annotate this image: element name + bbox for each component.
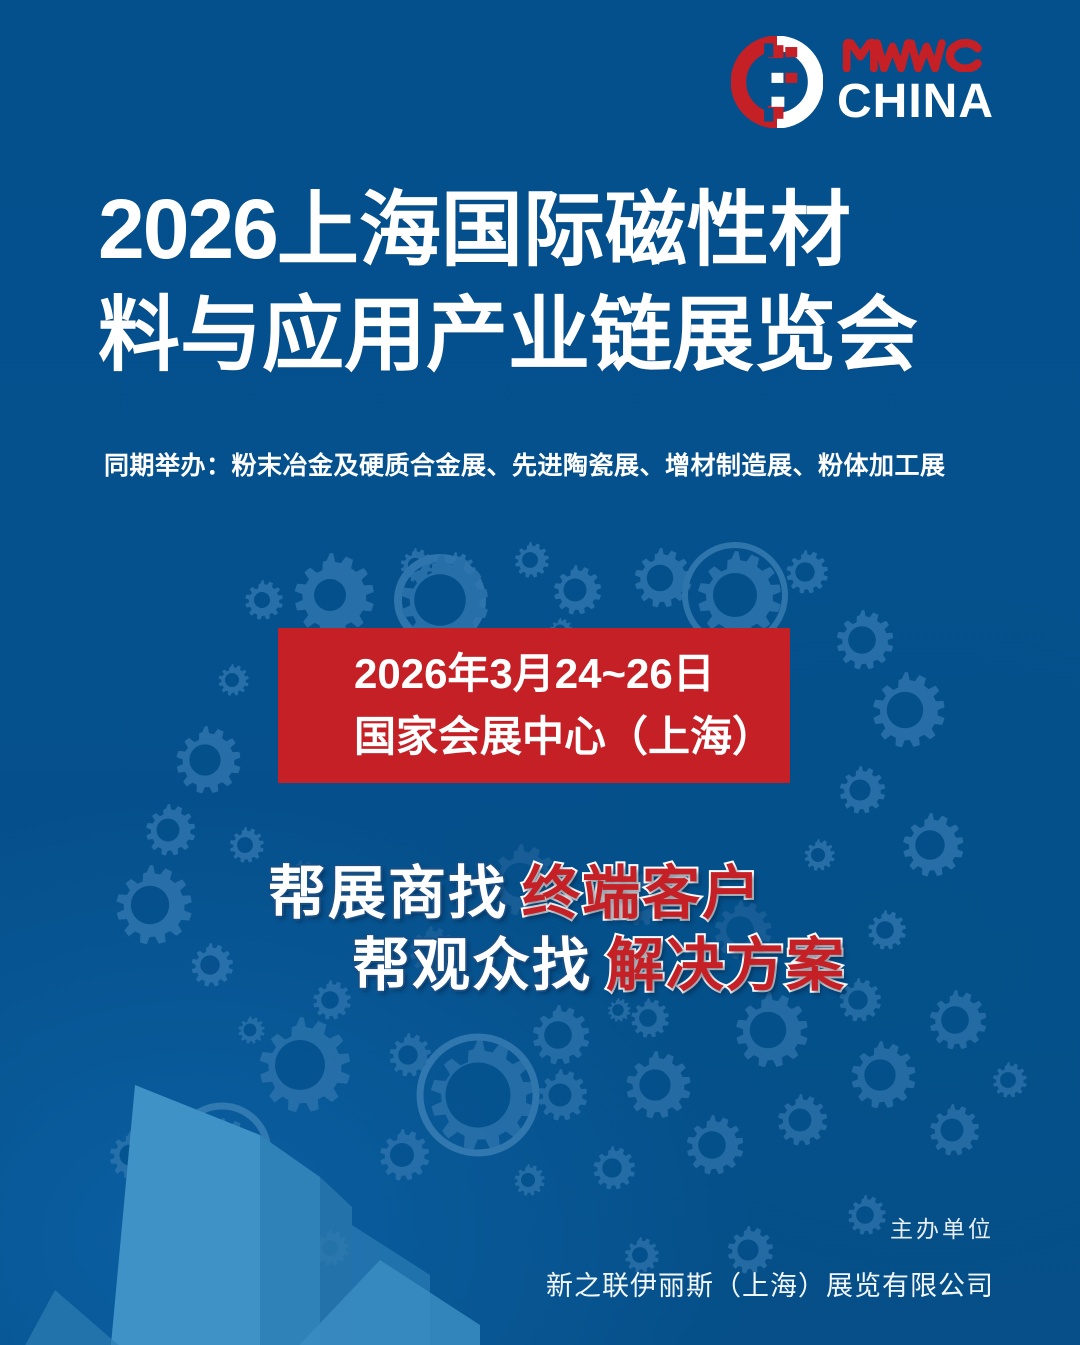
logo-wordmark: CHINA [837, 38, 994, 126]
event-date: 2026年3月24~26日 [354, 643, 790, 705]
footer-label: 主办单位 [546, 1210, 994, 1244]
page-title: 2026上海国际磁性材 料与应用产业链展览会 [98, 176, 998, 389]
prism-decoration [0, 1025, 480, 1345]
slogan-1-red: 终端客户 [522, 861, 762, 926]
logo-china-text: CHINA [837, 78, 994, 126]
title-line-1: 2026上海国际磁性材 [98, 176, 998, 284]
poster-canvas: CHINA 2026上海国际磁性材 料与应用产业链展览会 同期举办：粉末冶金及硬… [0, 0, 1080, 1345]
slogan-2-red: 解决方案 [606, 933, 846, 998]
title-year: 2026 [98, 182, 277, 276]
subtitle-concurrent-events: 同期举办：粉末冶金及硬质合金展、先进陶瓷展、增材制造展、粉体加工展 [104, 446, 946, 482]
event-venue: 国家会展中心（上海） [354, 706, 790, 768]
slogan-2-white: 帮观众找 [352, 933, 592, 998]
mwc-wordmark-icon [837, 38, 994, 72]
title-line-2: 料与应用产业链展览会 [98, 284, 998, 389]
date-venue-box: 2026年3月24~26日 国家会展中心（上海） [278, 628, 790, 783]
slogan-line-2: 帮观众找解决方案 [352, 918, 846, 1002]
footer-organizer-block: 主办单位 新之联伊丽斯（上海）展览有限公司 [546, 1210, 994, 1303]
mmc-china-logo[interactable]: CHINA [731, 36, 994, 128]
slogan-1-white: 帮展商找 [268, 861, 508, 926]
title-line-1-text: 上海国际磁性材 [277, 185, 851, 276]
magnet-logo-icon [731, 36, 823, 128]
footer-organizer-name: 新之联伊丽斯（上海）展览有限公司 [546, 1264, 994, 1303]
